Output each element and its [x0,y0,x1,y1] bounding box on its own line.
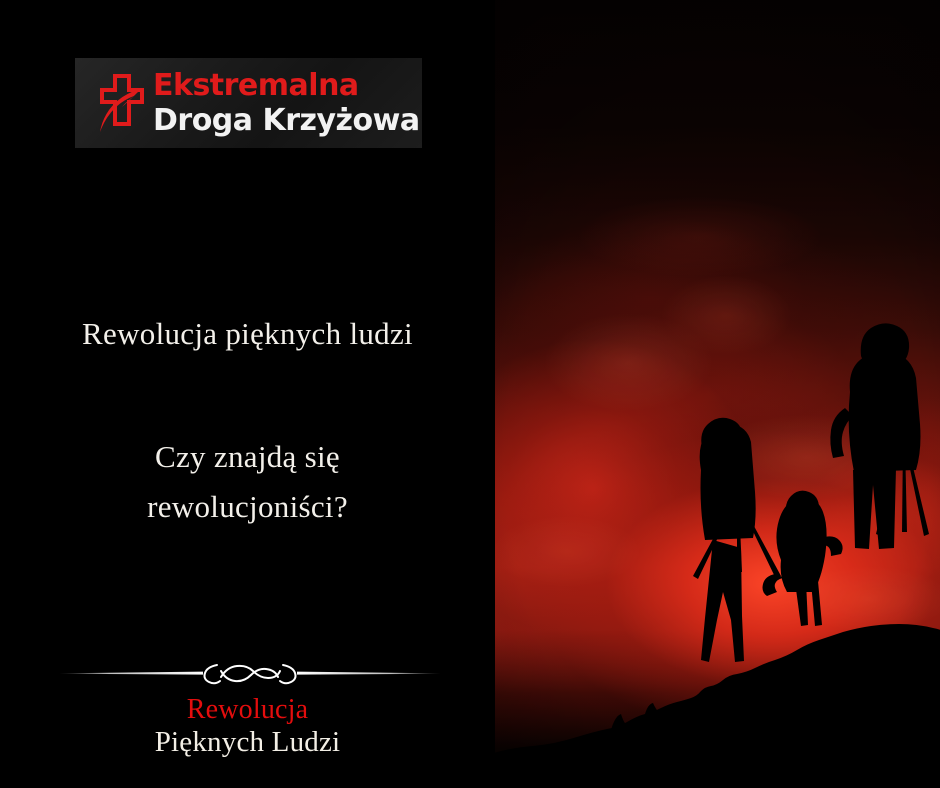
logo-line-2: Droga Krzyżowa [153,106,420,136]
logo[interactable]: Ekstremalna Droga Krzyżowa [75,58,422,148]
poster: Ekstremalna Droga Krzyżowa Rewolucja pię… [0,0,940,788]
logo-line-1: Ekstremalna [153,71,420,101]
signature-line-1: Rewolucja [0,694,495,726]
photo-panel [495,0,940,788]
headline-question-line-2: rewolucjoniści? [0,482,495,532]
headline-question-line-1: Czy znajdą się [0,432,495,482]
ornament-divider [55,657,445,689]
cross-with-swoosh-icon [89,70,147,136]
signature-line-2: Pięknych Ludzi [0,726,495,759]
headline-question: Czy znajdą się rewolucjoniści? [0,432,495,532]
content-panel: Ekstremalna Droga Krzyżowa Rewolucja pię… [0,0,495,788]
headline-primary: Rewolucja pięknych ludzi [0,316,495,352]
photo-vignette [495,0,940,788]
